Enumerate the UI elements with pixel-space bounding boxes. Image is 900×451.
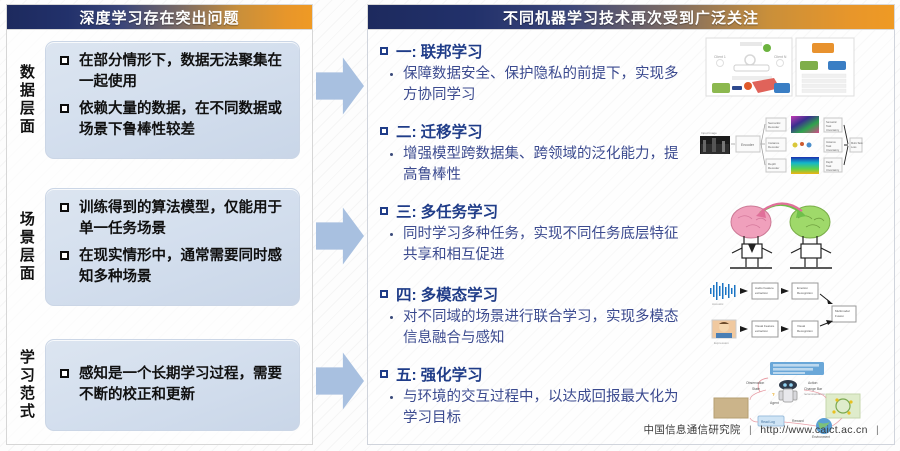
svg-text:Decoder: Decoder bbox=[768, 145, 779, 149]
svg-text:Audio Feature: Audio Feature bbox=[755, 286, 774, 290]
svg-text:Semantic: Semantic bbox=[826, 120, 838, 124]
svg-text:Acoustic: Acoustic bbox=[712, 302, 724, 306]
right-item-multimodal-learning: 四: 多模态学习 对不同域的场景进行联合学习，实现多模态信息融合与感知 bbox=[380, 283, 690, 349]
right-arrow-icon-3 bbox=[316, 350, 364, 412]
svg-text:Uncertainty: Uncertainty bbox=[826, 128, 840, 132]
left-bullet-text: 在现实情形中，通常需要同时感知多种场景 bbox=[79, 246, 289, 287]
svg-text:extraction: extraction bbox=[755, 291, 768, 295]
svg-text:Loss: Loss bbox=[851, 145, 857, 149]
checkbox-square-icon bbox=[380, 127, 388, 135]
right-item-desc: 保障数据安全、保护隐私的前提下，实现多方协同学习 bbox=[403, 64, 690, 106]
right-arrow-icon-2 bbox=[316, 205, 364, 267]
checkbox-square-icon bbox=[60, 369, 69, 378]
checkbox-square-icon bbox=[60, 104, 69, 113]
thumb-transfer-learning-diagram: Input Image Encoder Semantic Decoder Ins… bbox=[698, 114, 863, 180]
left-row-learning-paradigm: 学习范式 感知是一个长期学习过程，需要不断的校正和更新 bbox=[7, 330, 314, 440]
svg-text:Emotion: Emotion bbox=[797, 286, 808, 290]
svg-text:recommendation: recommendation bbox=[804, 392, 825, 396]
thumb-multitask-learning-brains bbox=[718, 200, 844, 272]
left-row-label-2: 学习范式 bbox=[7, 349, 45, 421]
checkbox-square-icon bbox=[380, 47, 388, 55]
bullet-dot-icon bbox=[390, 153, 393, 156]
left-bullet: 在部分情形下，数据无法聚集在一起使用 bbox=[54, 51, 289, 92]
footer: 中国信息通信研究院 | http://www.caict.ac.cn | bbox=[644, 422, 884, 437]
svg-text:Agent: Agent bbox=[770, 401, 779, 405]
footer-separator: | bbox=[749, 424, 752, 436]
checkbox-square-icon bbox=[60, 251, 69, 260]
left-panel: 深度学习存在突出问题 数据层面 在部分情形下，数据无法聚集在一起使用 依赖大量的… bbox=[6, 4, 313, 445]
checkbox-square-icon bbox=[60, 56, 69, 65]
right-item-heading: 三: 多任务学习 bbox=[380, 200, 690, 222]
left-panel-body: 数据层面 在部分情形下，数据无法聚集在一起使用 依赖大量的数据，在不同数据或场景… bbox=[6, 30, 313, 445]
bullet-dot-icon bbox=[390, 396, 393, 399]
right-item-title: 联邦学习 bbox=[421, 40, 483, 62]
right-item-desc: 增强模型跨数据集、跨领域的泛化能力，提高鲁棒性 bbox=[403, 144, 690, 186]
right-item-body: 对不同域的场景进行联合学习，实现多模态信息融合与感知 bbox=[386, 307, 690, 349]
right-item-number: 三: bbox=[396, 200, 417, 222]
svg-text:Action: Action bbox=[808, 381, 818, 385]
right-item-number: 一: bbox=[396, 40, 417, 62]
right-item-number: 五: bbox=[396, 363, 417, 385]
checkbox-square-icon bbox=[380, 370, 388, 378]
left-row-label-0: 数据层面 bbox=[7, 64, 45, 136]
checkbox-square-icon bbox=[380, 290, 388, 298]
left-panel-header: 深度学习存在突出问题 bbox=[6, 4, 313, 30]
right-item-heading: 二: 迁移学习 bbox=[380, 120, 690, 142]
right-panel-title: 不同机器学习技术再次受到广泛关注 bbox=[503, 7, 759, 28]
right-item-title: 多模态学习 bbox=[421, 283, 499, 305]
right-panel: 不同机器学习技术再次受到广泛关注 一: 联邦学习 保障数据安全、保护隐私的前提下… bbox=[367, 4, 895, 445]
footer-url[interactable]: http://www.caict.ac.cn bbox=[760, 424, 868, 436]
svg-text:Recognition: Recognition bbox=[797, 329, 813, 333]
left-bullet-text: 在部分情形下，数据无法聚集在一起使用 bbox=[79, 51, 289, 92]
bullet-dot-icon bbox=[390, 233, 393, 236]
right-arrow-icon-1 bbox=[316, 55, 364, 117]
svg-text:Depth: Depth bbox=[826, 160, 833, 164]
svg-text:?: ? bbox=[772, 392, 775, 397]
right-item-title: 迁移学习 bbox=[421, 120, 483, 142]
left-bullet: 感知是一个长期学习过程，需要不断的校正和更新 bbox=[54, 364, 289, 405]
right-item-heading: 一: 联邦学习 bbox=[380, 40, 690, 62]
svg-text:Instance: Instance bbox=[826, 140, 836, 144]
svg-text:State: State bbox=[752, 387, 760, 391]
right-item-body: 增强模型跨数据集、跨领域的泛化能力，提高鲁棒性 bbox=[386, 144, 690, 186]
left-bullet: 训练得到的算法模型，仅能用于单一任务场景 bbox=[54, 198, 289, 239]
right-item-reinforcement-learning: 五: 强化学习 与环境的交互过程中，以达成回报最大化为学习目标 bbox=[380, 363, 690, 429]
left-bullet: 在现实情形中，通常需要同时感知多种场景 bbox=[54, 246, 289, 287]
svg-text:Uncertainty: Uncertainty bbox=[826, 148, 840, 152]
right-item-title: 强化学习 bbox=[421, 363, 483, 385]
thumb-federated-learning-diagram: Client 1 Client N bbox=[704, 36, 859, 98]
svg-text:Multimodal: Multimodal bbox=[835, 309, 850, 313]
right-item-heading: 四: 多模态学习 bbox=[380, 283, 690, 305]
right-item-desc: 对不同域的场景进行联合学习，实现多模态信息融合与感知 bbox=[403, 307, 690, 349]
right-item-transfer-learning: 二: 迁移学习 增强模型跨数据集、跨领域的泛化能力，提高鲁棒性 bbox=[380, 120, 690, 186]
right-item-title: 多任务学习 bbox=[421, 200, 499, 222]
svg-text:Decoder: Decoder bbox=[768, 166, 779, 170]
left-bullet-text: 依赖大量的数据，在不同数据或场景下鲁棒性较差 bbox=[79, 99, 289, 140]
left-row-label-1: 场景层面 bbox=[7, 211, 45, 283]
svg-text:Task: Task bbox=[826, 144, 832, 148]
svg-text:Multi-Task: Multi-Task bbox=[851, 141, 863, 145]
bullet-dot-icon bbox=[390, 316, 393, 319]
svg-text:Visual Feature: Visual Feature bbox=[755, 324, 775, 328]
svg-text:Client 1: Client 1 bbox=[714, 55, 726, 59]
right-item-body: 同时学习多种任务，实现不同任务底层特征共享和相互促进 bbox=[386, 224, 690, 266]
left-box-2: 感知是一个长期学习过程，需要不断的校正和更新 bbox=[45, 339, 300, 431]
checkbox-square-icon bbox=[60, 203, 69, 212]
svg-text:Observation: Observation bbox=[746, 381, 764, 385]
svg-text:Task: Task bbox=[826, 124, 832, 128]
checkbox-square-icon bbox=[380, 207, 388, 215]
svg-text:Uncertainty: Uncertainty bbox=[826, 168, 840, 172]
thumb-multimodal-learning-pipeline: Acoustic Audio Feature extraction Emotio… bbox=[704, 280, 864, 352]
right-panel-header: 不同机器学习技术再次受到广泛关注 bbox=[367, 4, 895, 30]
svg-text:extraction: extraction bbox=[755, 329, 768, 333]
right-item-body: 保障数据安全、保护隐私的前提下，实现多方协同学习 bbox=[386, 64, 690, 106]
left-box-1: 训练得到的算法模型，仅能用于单一任务场景 在现实情形中，通常需要同时感知多种场景 bbox=[45, 188, 300, 306]
footer-org: 中国信息通信研究院 bbox=[644, 424, 741, 436]
svg-text:Visual: Visual bbox=[797, 324, 805, 328]
bullet-dot-icon bbox=[390, 73, 393, 76]
left-bullet: 依赖大量的数据，在不同数据或场景下鲁棒性较差 bbox=[54, 99, 289, 140]
svg-text:Fusion: Fusion bbox=[835, 314, 844, 318]
left-row-scene-layer: 场景层面 训练得到的算法模型，仅能用于单一任务场景 在现实情形中，通常需要同时感… bbox=[7, 182, 314, 312]
left-panel-title: 深度学习存在突出问题 bbox=[79, 7, 239, 28]
left-row-data-layer: 数据层面 在部分情形下，数据无法聚集在一起使用 依赖大量的数据，在不同数据或场景… bbox=[7, 36, 314, 164]
right-item-multitask-learning: 三: 多任务学习 同时学习多种任务，实现不同任务底层特征共享和相互促进 bbox=[380, 200, 690, 266]
svg-text:Recognition: Recognition bbox=[797, 291, 813, 295]
svg-text:Input Image: Input Image bbox=[701, 131, 717, 135]
left-bullet-text: 感知是一个长期学习过程，需要不断的校正和更新 bbox=[79, 364, 289, 405]
svg-text:Decoder: Decoder bbox=[768, 125, 779, 129]
right-item-number: 二: bbox=[396, 120, 417, 142]
right-panel-body: 一: 联邦学习 保障数据安全、保护隐私的前提下，实现多方协同学习 二: 迁移学习 bbox=[367, 30, 895, 445]
left-bullet-text: 训练得到的算法模型，仅能用于单一任务场景 bbox=[79, 198, 289, 239]
svg-text:Client N: Client N bbox=[774, 55, 787, 59]
right-item-federated-learning: 一: 联邦学习 保障数据安全、保护隐私的前提下，实现多方协同学习 bbox=[380, 40, 690, 106]
svg-text:Expression: Expression bbox=[714, 341, 729, 345]
svg-text:Encoder: Encoder bbox=[741, 143, 755, 147]
slide-canvas: 深度学习存在突出问题 数据层面 在部分情形下，数据无法聚集在一起使用 依赖大量的… bbox=[0, 0, 900, 451]
left-box-0: 在部分情形下，数据无法聚集在一起使用 依赖大量的数据，在不同数据或场景下鲁棒性较… bbox=[45, 41, 300, 159]
footer-separator-2: | bbox=[876, 424, 879, 436]
right-item-number: 四: bbox=[396, 283, 417, 305]
svg-text:Task: Task bbox=[826, 164, 832, 168]
right-item-heading: 五: 强化学习 bbox=[380, 363, 690, 385]
right-item-desc: 同时学习多种任务，实现不同任务底层特征共享和相互促进 bbox=[403, 224, 690, 266]
